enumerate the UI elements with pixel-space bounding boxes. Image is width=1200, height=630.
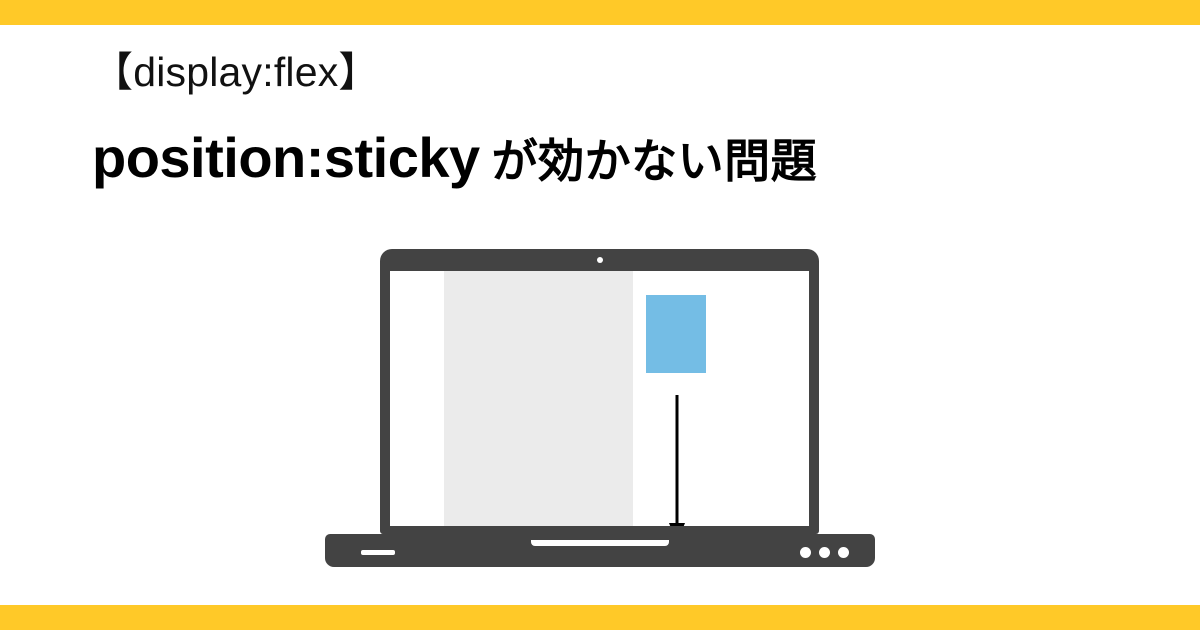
trackpad-notch [531, 540, 669, 546]
port-dot [800, 547, 811, 558]
laptop-lid [380, 249, 819, 534]
sticky-element-box [646, 295, 706, 373]
port-dots-group [800, 547, 849, 558]
laptop-illustration [325, 246, 875, 576]
flex-sidebar-column [444, 271, 633, 526]
port-dot [819, 547, 830, 558]
headline-code-token: position:sticky [92, 126, 480, 189]
og-image-card: 【display:flex】 position:stickyが効かない問題 [0, 0, 1200, 630]
port-dot [838, 547, 849, 558]
top-accent-band [0, 0, 1200, 25]
indicator-slot [361, 550, 395, 555]
laptop-base [325, 534, 875, 567]
page-title: position:stickyが効かない問題 [92, 123, 1102, 193]
bottom-accent-band [0, 605, 1200, 630]
webcam-icon [597, 257, 603, 263]
heading-block: 【display:flex】 position:stickyが効かない問題 [92, 48, 1102, 193]
scroll-down-arrow-icon [665, 395, 689, 526]
eyebrow-label: 【display:flex】 [92, 48, 1102, 97]
laptop-screen [390, 271, 809, 526]
headline-japanese-text: が効かない問題 [492, 135, 818, 187]
